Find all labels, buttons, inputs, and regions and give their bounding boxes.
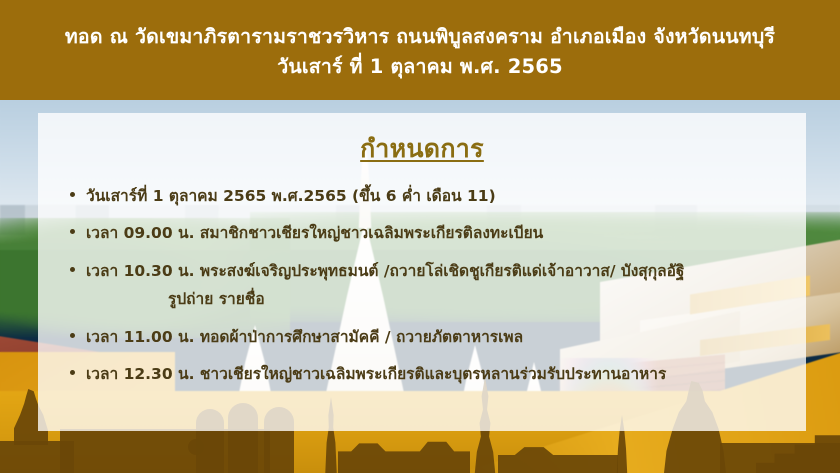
agenda-item-text: เวลา 12.30 น. ชาวเชียรใหญ่ชาวเฉลิมพระเกี…	[86, 365, 666, 383]
agenda-item-text: เวลา 09.00 น. สมาชิกชาวเชียรใหญ่ชาวเฉลิม…	[86, 224, 543, 242]
bullet-icon	[70, 229, 75, 234]
agenda-item-text: เวลา 11.00 น. ทอดผ้าป่าการศึกษาสามัคคี /…	[86, 328, 523, 346]
bullet-icon	[70, 192, 75, 197]
agenda-item-text: เวลา 10.30 น. พระสงฆ์เจริญประพุทธมนต์ /ถ…	[86, 262, 684, 280]
agenda-panel: กำหนดการ วันเสาร์ที่ 1 ตุลาคม 2565 พ.ศ.2…	[38, 113, 806, 431]
bullet-icon	[70, 267, 75, 272]
list-item: เวลา 11.00 น. ทอดผ้าป่าการศึกษาสามัคคี /…	[64, 326, 780, 348]
header-date-line: วันเสาร์ ที่ 1 ตุลาคม พ.ศ. 2565	[277, 52, 563, 82]
agenda-item-text: วันเสาร์ที่ 1 ตุลาคม 2565 พ.ศ.2565 (ขึ้น…	[86, 187, 496, 205]
header-venue-line: ทอด ณ วัดเขมาภิรตารามราชวรวิหาร ถนนพิบูล…	[65, 22, 775, 52]
list-item: วันเสาร์ที่ 1 ตุลาคม 2565 พ.ศ.2565 (ขึ้น…	[64, 185, 780, 207]
bullet-icon	[70, 333, 75, 338]
bullet-icon	[70, 370, 75, 375]
agenda-list: วันเสาร์ที่ 1 ตุลาคม 2565 พ.ศ.2565 (ขึ้น…	[64, 185, 780, 386]
page-title: กำหนดการ	[64, 129, 780, 169]
list-item: เวลา 09.00 น. สมาชิกชาวเชียรใหญ่ชาวเฉลิม…	[64, 222, 780, 244]
list-item: เวลา 10.30 น. พระสงฆ์เจริญประพุทธมนต์ /ถ…	[64, 260, 780, 311]
temple-hall-silhouette	[338, 433, 470, 473]
temple-hall-silhouette	[498, 437, 618, 473]
agenda-item-continuation: รูปถ่าย รายชื่อ	[86, 288, 780, 310]
event-poster: ทอด ณ วัดเขมาภิรตารามราชวรวิหาร ถนนพิบูล…	[0, 0, 840, 473]
poster-header: ทอด ณ วัดเขมาภิรตารามราชวรวิหาร ถนนพิบูล…	[0, 0, 840, 100]
list-item: เวลา 12.30 น. ชาวเชียรใหญ่ชาวเฉลิมพระเกี…	[64, 363, 780, 385]
